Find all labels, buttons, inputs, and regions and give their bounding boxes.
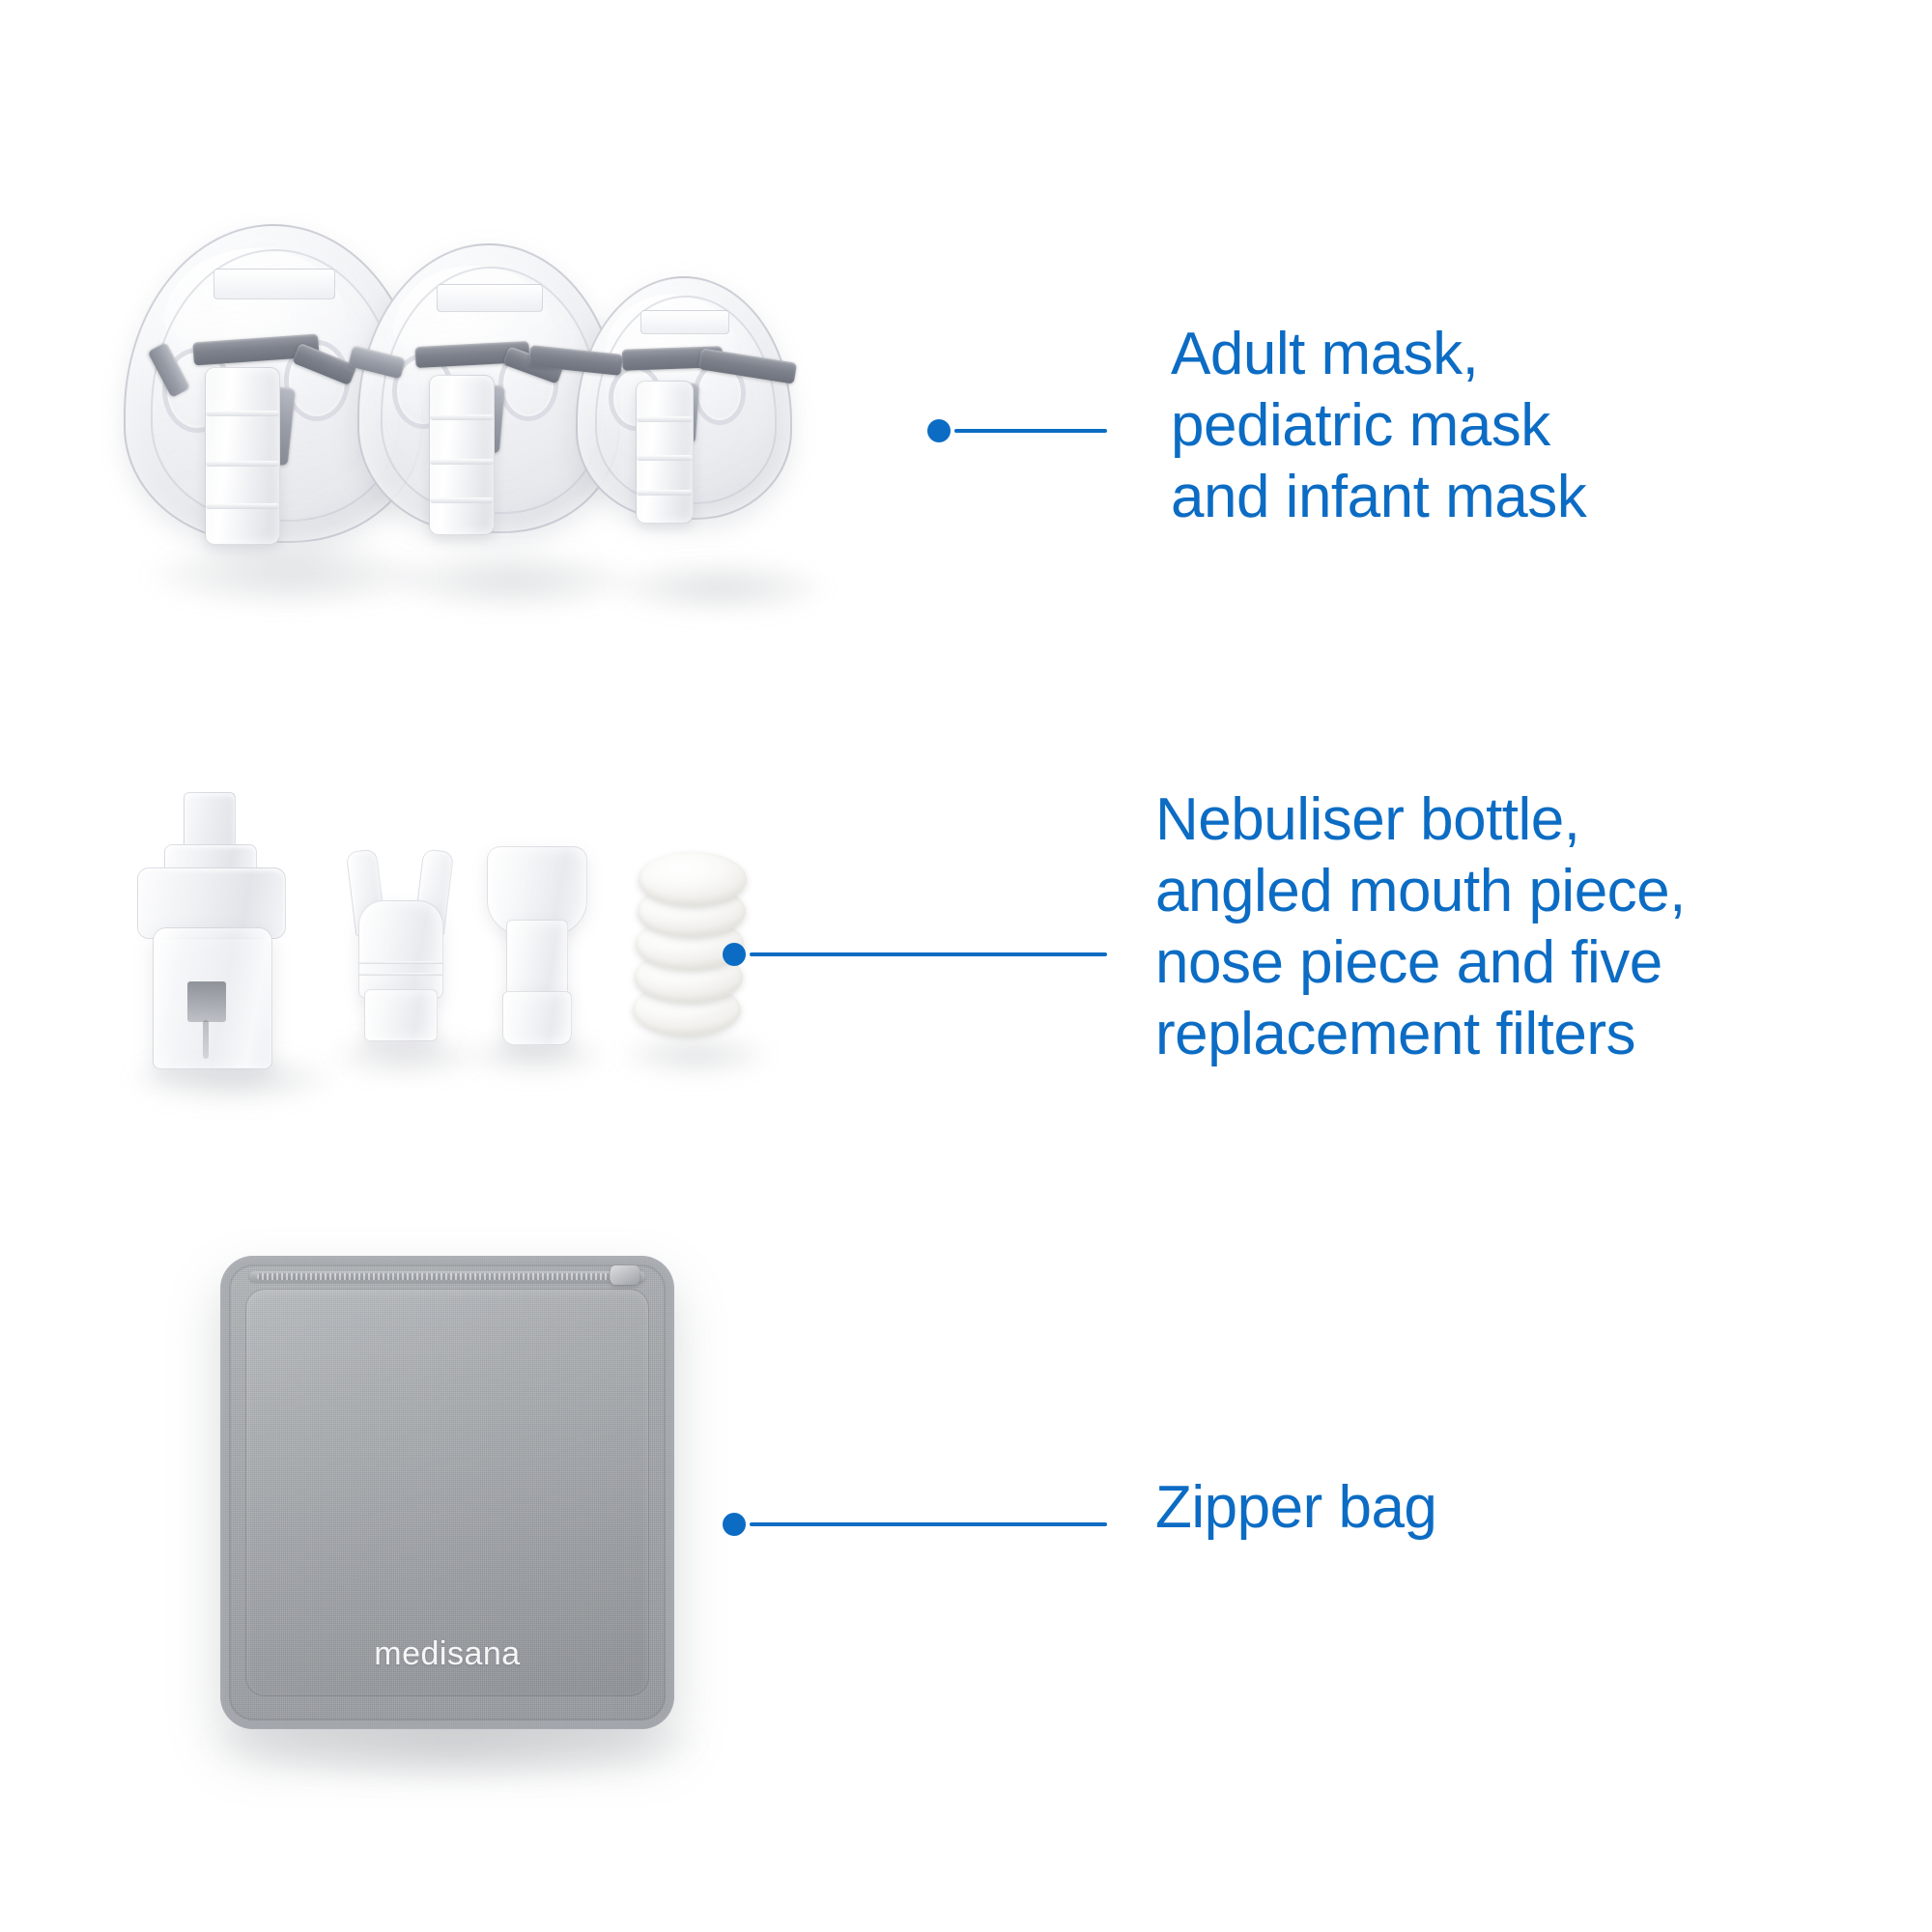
pediatric-mask-nose-bridge <box>437 284 544 312</box>
callout-accessories-dot <box>723 943 746 966</box>
nose-piece-ridge-2 <box>359 973 442 976</box>
zipper-bag-brand-logo: medisana <box>220 1635 674 1673</box>
adult-mask-port <box>205 367 280 545</box>
nose-piece-body <box>358 900 443 999</box>
adult-mask-port-ring-3 <box>206 503 279 509</box>
pediatric-mask-port-ring-2 <box>430 459 494 465</box>
infographic-canvas: Adult mask,pediatric maskand infant mask <box>0 0 1932 1932</box>
adult-mask-port-ring-1 <box>206 411 279 416</box>
nebuliser-bottle-stem <box>203 1020 209 1059</box>
adult-mask-shadow <box>145 541 435 609</box>
nose-piece-connector <box>364 989 438 1041</box>
infant-mask-port-ring-2 <box>637 455 693 461</box>
infant-mask-port <box>636 381 694 524</box>
angled-mouth-piece <box>483 846 589 1043</box>
zipper-bag-zipper-pull <box>611 1265 639 1285</box>
adult-mask-nose-bridge <box>213 269 335 299</box>
callout-bag-label: Zipper bag <box>1155 1472 1436 1544</box>
infant-mask <box>576 276 792 520</box>
callout-accessories-label: Nebuliser bottle,angled mouth piece,nose… <box>1155 784 1686 1070</box>
pediatric-mask-shadow <box>386 551 638 611</box>
pediatric-mask-port-ring-3 <box>430 497 494 503</box>
zipper-bag-zipper-teeth <box>257 1273 638 1280</box>
callout-bag-leader-line <box>750 1522 1107 1526</box>
nose-piece <box>343 850 457 1043</box>
infant-mask-nose-bridge <box>640 310 729 334</box>
infant-mask-shadow <box>609 560 831 614</box>
filter-disc-1 <box>639 852 747 906</box>
callout-masks-leader-line <box>954 429 1107 433</box>
nebuliser-bottle-baffle <box>187 981 226 1022</box>
nose-piece-ridge-1 <box>359 961 442 964</box>
pediatric-mask-port <box>429 375 495 535</box>
callout-masks-label: Adult mask,pediatric maskand infant mask <box>1171 319 1586 533</box>
nebuliser-bottle <box>128 792 313 1067</box>
callout-masks-dot <box>927 419 951 442</box>
infant-mask-port-ring-1 <box>637 416 693 422</box>
angled-mouth-piece-connector <box>502 991 572 1045</box>
pediatric-mask-port-ring-1 <box>430 414 494 420</box>
callout-bag-dot <box>723 1513 746 1536</box>
callout-accessories-leader-line <box>750 952 1107 956</box>
infant-mask-port-ring-3 <box>637 490 693 496</box>
adult-mask-port-ring-2 <box>206 461 279 467</box>
zipper-bag-zipper <box>249 1271 645 1282</box>
zipper-bag: medisana <box>220 1256 674 1729</box>
